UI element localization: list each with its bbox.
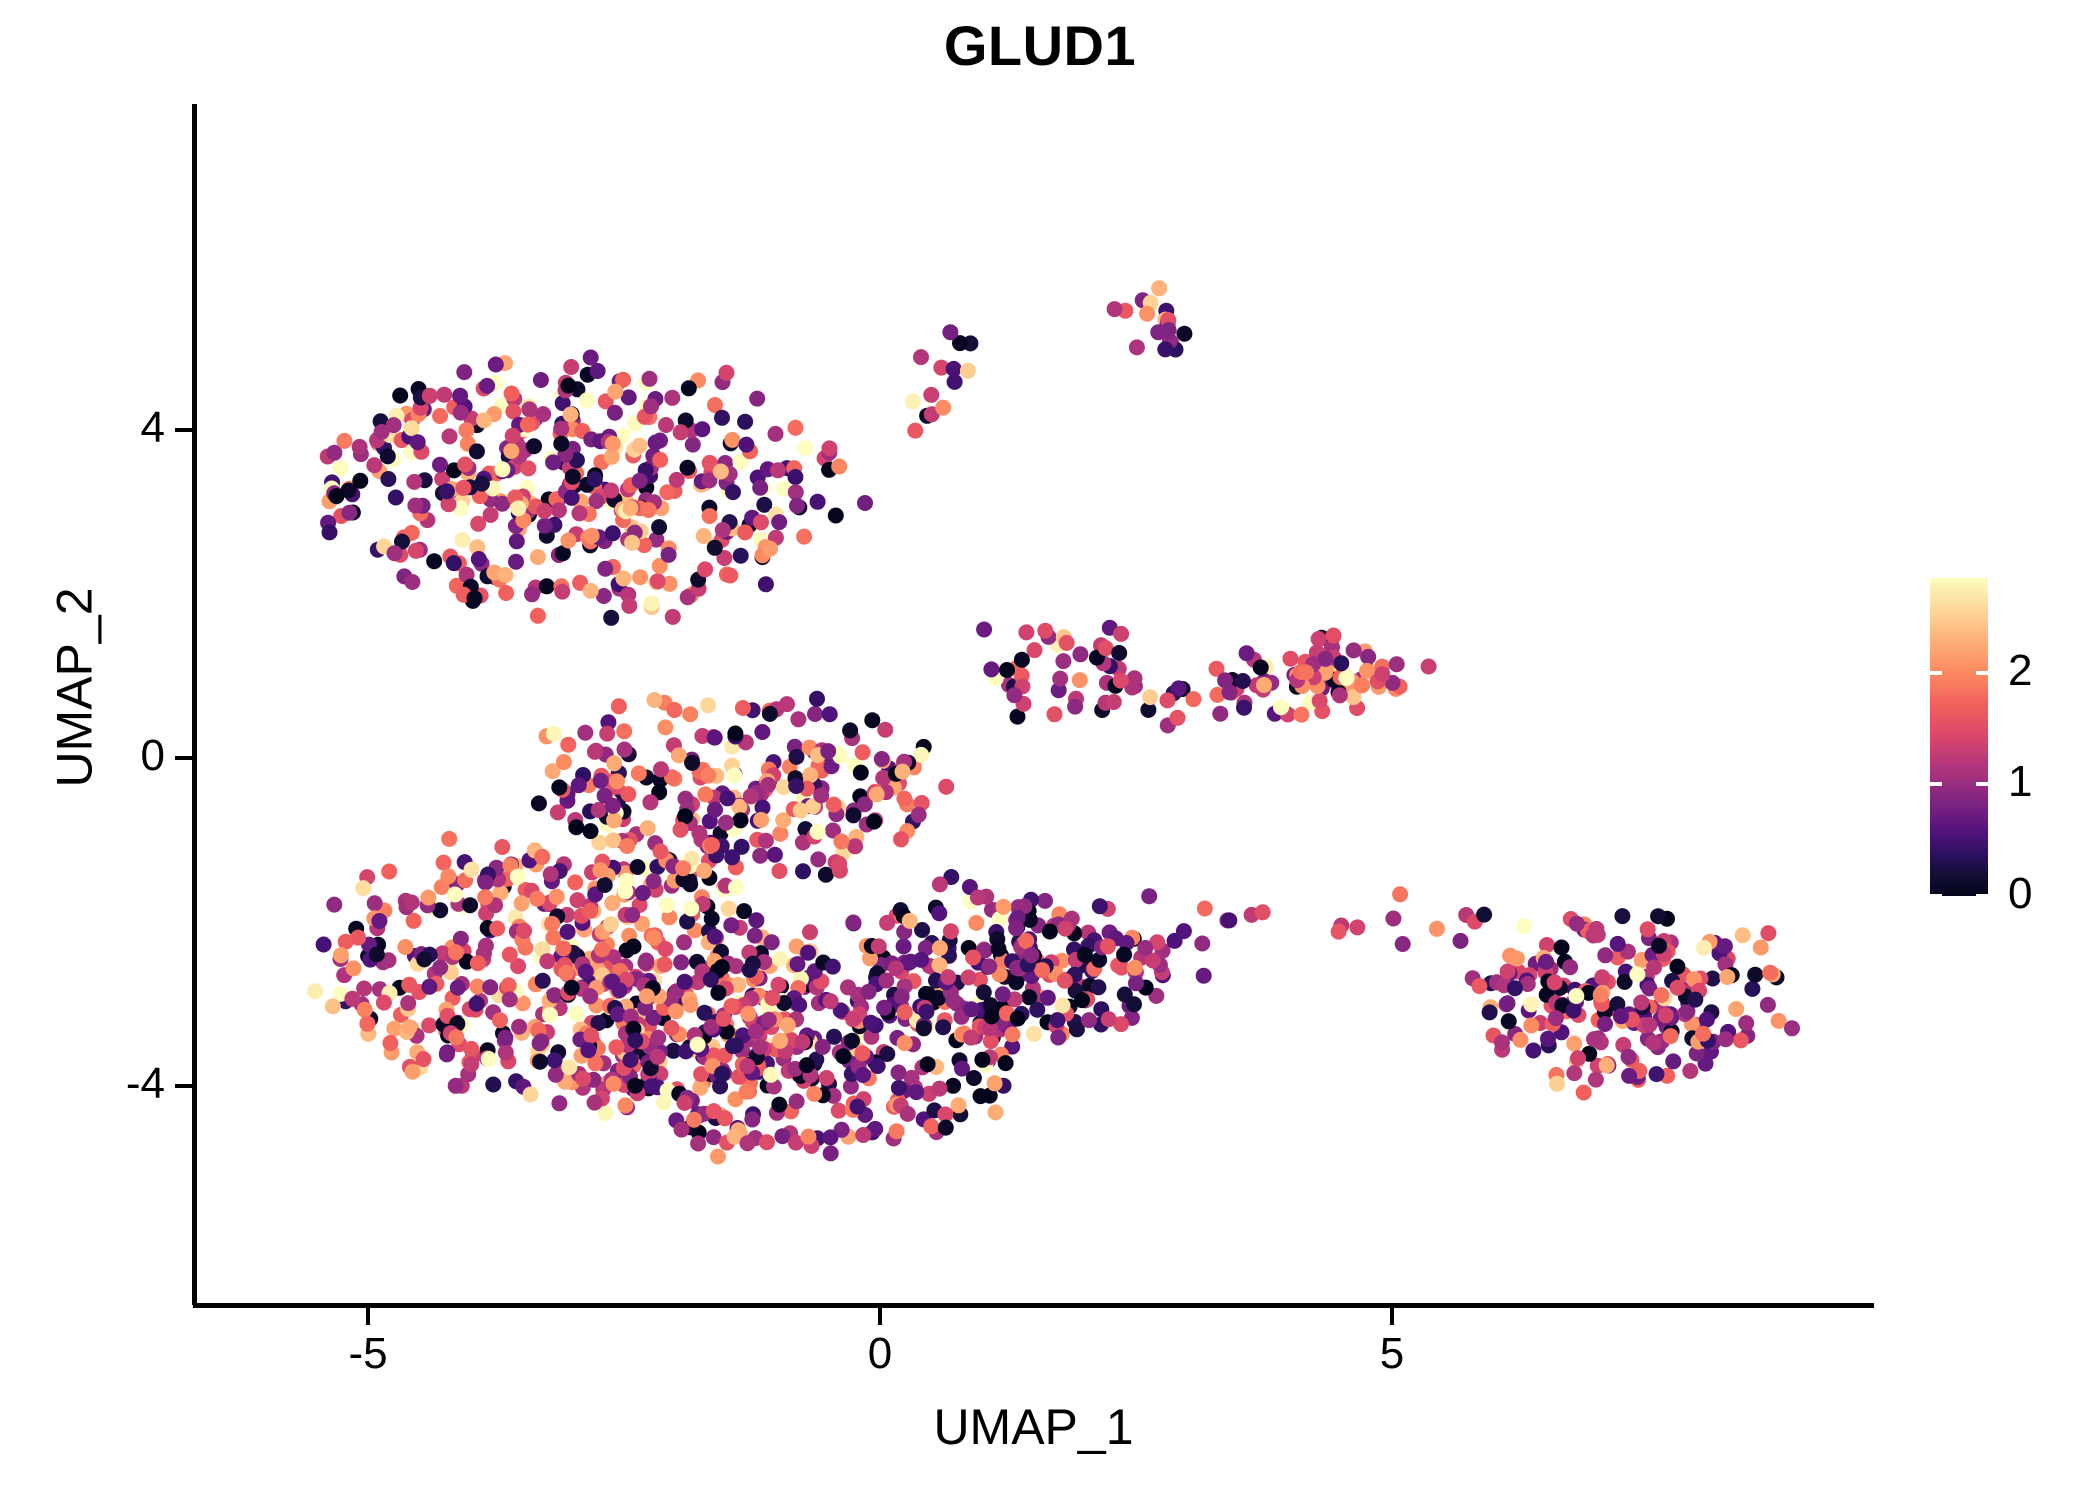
scatter-point — [1687, 992, 1703, 1008]
scatter-point — [1170, 710, 1186, 726]
scatter-point — [1111, 645, 1127, 661]
scatter-point — [416, 951, 432, 967]
scatter-point — [408, 543, 424, 559]
scatter-point — [508, 554, 524, 570]
scatter-point — [1141, 888, 1157, 904]
scatter-point — [644, 1078, 660, 1094]
scatter-point — [1331, 924, 1347, 940]
scatter-point — [810, 494, 826, 510]
scatter-point — [943, 923, 959, 939]
scatter-point — [488, 357, 504, 373]
scatter-point — [474, 476, 490, 492]
scatter-point — [657, 719, 673, 735]
scatter-point — [908, 1084, 924, 1100]
scatter-point — [1298, 664, 1314, 680]
scatter-point — [597, 788, 613, 804]
scatter-point — [1566, 1036, 1582, 1052]
scatter-point — [524, 586, 540, 602]
scatter-point — [739, 1084, 755, 1100]
scatter-point — [1107, 301, 1123, 317]
scatter-point — [1037, 623, 1053, 639]
scatter-point — [822, 440, 838, 456]
scatter-point — [976, 622, 992, 638]
scatter-point — [631, 765, 647, 781]
scatter-point — [494, 839, 510, 855]
scatter-point — [738, 437, 754, 453]
scatter-point — [725, 484, 741, 500]
scatter-point — [661, 547, 677, 563]
scatter-point — [1771, 1013, 1787, 1029]
scatter-point — [1333, 655, 1349, 671]
scatter-point — [646, 930, 662, 946]
scatter-point — [823, 993, 839, 1009]
scatter-point — [516, 923, 532, 939]
scatter-point — [1453, 933, 1469, 949]
scatter-point — [897, 1004, 913, 1020]
scatter-point — [526, 438, 542, 454]
scatter-point — [970, 890, 986, 906]
scatter-point — [1161, 322, 1177, 338]
scatter-point — [855, 1127, 871, 1143]
scatter-point — [664, 390, 680, 406]
scatter-point — [1151, 280, 1167, 296]
scatter-point — [752, 480, 768, 496]
scatter-point — [913, 349, 929, 365]
scatter-point — [1753, 940, 1769, 956]
x-tick-mark — [1390, 1308, 1394, 1325]
scatter-point — [551, 502, 567, 518]
scatter-point — [605, 525, 621, 541]
scatter-point — [492, 1012, 508, 1028]
scatter-point — [995, 986, 1011, 1002]
scatter-point — [369, 946, 385, 962]
scatter-point — [916, 1020, 932, 1036]
scatter-point — [1650, 908, 1666, 924]
scatter-point — [1037, 893, 1053, 909]
scatter-point — [1160, 692, 1176, 708]
scatter-point — [707, 540, 723, 556]
scatter-point — [380, 471, 396, 487]
scatter-point — [376, 995, 392, 1011]
scatter-point — [663, 1020, 679, 1036]
scatter-point — [404, 895, 420, 911]
scatter-point — [658, 417, 674, 433]
scatter-point — [583, 350, 599, 366]
scatter-point — [771, 514, 787, 530]
scatter-point — [1072, 672, 1088, 688]
scatter-point — [1126, 996, 1142, 1012]
scatter-point — [520, 417, 536, 433]
scatter-point — [1024, 947, 1040, 963]
scatter-point — [823, 1145, 839, 1161]
scatter-point — [1621, 1049, 1637, 1065]
scatter-point — [442, 428, 458, 444]
scatter-point — [542, 1007, 558, 1023]
scatter-point — [680, 460, 696, 476]
scatter-point — [652, 452, 668, 468]
scatter-point — [714, 1066, 730, 1082]
scatter-point — [790, 711, 806, 727]
scatter-point — [374, 424, 390, 440]
scatter-point — [567, 874, 583, 890]
scatter-point — [1640, 921, 1656, 937]
scatter-point — [1651, 938, 1667, 954]
scatter-point — [855, 744, 871, 760]
scatter-point — [572, 505, 588, 521]
scatter-point — [510, 500, 526, 516]
y-axis-title: UMAP_2 — [48, 408, 103, 968]
scatter-point — [404, 420, 420, 436]
scatter-point — [854, 1045, 870, 1061]
scatter-point — [533, 1033, 549, 1049]
scatter-point — [806, 1086, 822, 1102]
scatter-point — [772, 826, 788, 842]
scatter-point — [1728, 1001, 1744, 1017]
scatter-point — [503, 443, 519, 459]
scatter-point — [630, 859, 646, 875]
scatter-point — [563, 407, 579, 423]
scatter-point — [659, 897, 675, 913]
scatter-point — [684, 755, 700, 771]
scatter-point — [1018, 933, 1034, 949]
scatter-point — [439, 1046, 455, 1062]
scatter-point — [716, 1011, 732, 1027]
scatter-point — [560, 378, 576, 394]
scatter-point — [1614, 908, 1630, 924]
scatter-point — [700, 697, 716, 713]
scatter-point — [740, 1006, 756, 1022]
scatter-point — [965, 950, 981, 966]
y-axis-line — [192, 104, 197, 1305]
scatter-point — [1392, 886, 1408, 902]
scatter-point — [809, 691, 825, 707]
scatter-point — [597, 561, 613, 577]
scatter-point — [422, 388, 438, 404]
scatter-point — [724, 849, 740, 865]
scatter-point — [458, 422, 474, 438]
scatter-point — [759, 1134, 775, 1150]
scatter-point — [923, 387, 939, 403]
scatter-point — [587, 744, 603, 760]
scatter-point — [346, 960, 362, 976]
scatter-point — [463, 1041, 479, 1057]
scatter-point — [1311, 631, 1327, 647]
scatter-point — [845, 915, 861, 931]
scatter-point — [1283, 651, 1299, 667]
scatter-point — [509, 533, 525, 549]
scatter-point — [1346, 642, 1362, 658]
scatter-point — [371, 913, 387, 929]
scatter-point — [1067, 699, 1083, 715]
scatter-point — [505, 428, 521, 444]
scatter-point — [840, 979, 856, 995]
scatter-point — [553, 421, 569, 437]
scatter-point — [763, 1067, 779, 1083]
scatter-point — [583, 583, 599, 599]
scatter-point — [758, 576, 774, 592]
scatter-point — [543, 866, 559, 882]
scatter-point — [464, 862, 480, 878]
scatter-point — [421, 979, 437, 995]
x-tick-label: 0 — [800, 1330, 960, 1378]
y-tick-label: -4 — [20, 1060, 165, 1108]
scatter-point — [357, 1002, 373, 1018]
scatter-point — [1562, 959, 1578, 975]
scatter-point — [650, 1049, 666, 1065]
scatter-point — [1052, 671, 1068, 687]
scatter-point — [694, 421, 710, 437]
scatter-point — [720, 790, 736, 806]
scatter-point — [935, 400, 951, 416]
scatter-point — [367, 895, 383, 911]
scatter-point — [753, 514, 769, 530]
scatter-point — [1055, 653, 1071, 669]
scatter-point — [1008, 920, 1024, 936]
scatter-point — [609, 773, 625, 789]
scatter-point — [706, 1103, 722, 1119]
scatter-point — [591, 802, 607, 818]
scatter-point — [968, 915, 984, 931]
scatter-point — [529, 891, 545, 907]
scatter-point — [544, 916, 560, 932]
scatter-point — [791, 997, 807, 1013]
scatter-point — [770, 462, 786, 478]
scatter-point — [1167, 933, 1183, 949]
scatter-point — [897, 1035, 913, 1051]
scatter-point — [828, 508, 844, 524]
scatter-point — [400, 995, 416, 1011]
scatter-point — [1008, 974, 1024, 990]
scatter-point — [1018, 624, 1034, 640]
x-tick-label: 5 — [1312, 1330, 1472, 1378]
scatter-point — [1196, 968, 1212, 984]
scatter-point — [380, 448, 396, 464]
scatter-point — [1092, 898, 1108, 914]
scatter-point — [1354, 677, 1370, 693]
scatter-point — [514, 895, 530, 911]
scatter-point — [603, 916, 619, 932]
scatter-point — [823, 1129, 839, 1145]
scatter-point — [702, 508, 718, 524]
scatter-point — [590, 363, 606, 379]
scatter-point — [1762, 965, 1778, 981]
scatter-point — [1633, 995, 1649, 1011]
scatter-point — [561, 1059, 577, 1075]
scatter-point — [627, 1032, 643, 1048]
y-tick-mark — [175, 1084, 192, 1088]
scatter-point — [657, 957, 673, 973]
scatter-point — [1523, 1018, 1539, 1034]
scatter-point — [539, 578, 555, 594]
scatter-point — [845, 807, 861, 823]
scatter-point — [960, 363, 976, 379]
scatter-point — [1421, 659, 1437, 675]
scatter-point — [1665, 1053, 1681, 1069]
scatter-point — [471, 551, 487, 567]
scatter-point — [463, 1056, 479, 1072]
scatter-point — [1663, 1028, 1679, 1044]
scatter-point — [961, 969, 977, 985]
scatter-point — [894, 989, 910, 1005]
x-tick-mark — [878, 1308, 882, 1325]
scatter-point — [1760, 997, 1776, 1013]
scatter-plot-canvas — [0, 0, 2100, 1500]
scatter-point — [606, 755, 622, 771]
scatter-point — [1236, 700, 1252, 716]
scatter-point — [677, 1095, 693, 1111]
colorbar-tick-label: 2 — [2008, 647, 2098, 695]
scatter-point — [831, 1103, 847, 1119]
scatter-point — [1658, 1007, 1674, 1023]
scatter-point — [787, 469, 803, 485]
scatter-point — [1318, 651, 1334, 667]
scatter-point — [1735, 927, 1751, 943]
scatter-point — [627, 1078, 643, 1094]
scatter-point — [951, 1097, 967, 1113]
scatter-point — [551, 1095, 567, 1111]
scatter-point — [726, 767, 742, 783]
y-tick-mark — [175, 428, 192, 432]
scatter-point — [1747, 967, 1763, 983]
scatter-point — [401, 1019, 417, 1035]
scatter-point — [455, 480, 471, 496]
scatter-point — [536, 503, 552, 519]
scatter-point — [616, 571, 632, 587]
scatter-point — [1588, 921, 1604, 937]
scatter-point — [1549, 1076, 1565, 1092]
scatter-point — [498, 585, 514, 601]
scatter-point — [722, 568, 738, 584]
scatter-point — [644, 595, 660, 611]
scatter-point — [333, 947, 349, 963]
scatter-point — [416, 1051, 432, 1067]
scatter-point — [617, 1097, 633, 1113]
scatter-point — [447, 887, 463, 903]
scatter-point — [653, 761, 669, 777]
scatter-point — [800, 1129, 816, 1145]
scatter-point — [1050, 1030, 1066, 1046]
scatter-point — [963, 1030, 979, 1046]
scatter-point — [1610, 936, 1626, 952]
scatter-point — [436, 855, 452, 871]
scatter-point — [1157, 341, 1173, 357]
scatter-point — [1494, 1034, 1510, 1050]
scatter-point — [608, 1039, 624, 1055]
scatter-point — [1629, 966, 1645, 982]
scatter-point — [761, 1012, 777, 1028]
scatter-point — [638, 953, 654, 969]
scatter-point — [448, 1078, 464, 1094]
scatter-point — [1116, 947, 1132, 963]
scatter-point — [1695, 1026, 1711, 1042]
scatter-point — [876, 1000, 892, 1016]
scatter-point — [1221, 912, 1237, 928]
scatter-point — [1171, 680, 1187, 696]
scatter-point — [482, 979, 498, 995]
scatter-point — [1014, 652, 1030, 668]
scatter-point — [938, 779, 954, 795]
scatter-point — [453, 931, 469, 947]
scatter-point — [560, 533, 576, 549]
scatter-point — [352, 439, 368, 455]
scatter-point — [871, 938, 887, 954]
scatter-point — [1594, 969, 1610, 985]
scatter-point — [1476, 907, 1492, 923]
scatter-point — [1106, 694, 1122, 710]
scatter-point — [1719, 969, 1735, 985]
scatter-point — [604, 895, 620, 911]
scatter-point — [896, 938, 912, 954]
scatter-point — [747, 928, 763, 944]
scatter-point — [1646, 960, 1662, 976]
scatter-point — [646, 692, 662, 708]
scatter-point — [878, 973, 894, 989]
scatter-point — [1349, 919, 1365, 935]
scatter-point — [896, 791, 912, 807]
scatter-point — [1548, 1010, 1564, 1026]
scatter-point — [469, 996, 485, 1012]
scatter-point — [440, 868, 456, 884]
scatter-point — [760, 777, 776, 793]
scatter-point — [902, 913, 918, 929]
scatter-point — [535, 973, 551, 989]
scatter-point — [617, 883, 633, 899]
scatter-point — [470, 955, 486, 971]
scatter-point — [1042, 924, 1058, 940]
scatter-point — [847, 838, 863, 854]
scatter-point — [502, 991, 518, 1007]
scatter-point — [845, 1011, 861, 1027]
scatter-point — [1569, 916, 1585, 932]
scatter-point — [1239, 645, 1255, 661]
scatter-point — [404, 574, 420, 590]
scatter-point — [1186, 691, 1202, 707]
scatter-point — [748, 1023, 764, 1039]
scatter-point — [406, 474, 422, 490]
scatter-point — [1540, 1031, 1556, 1047]
scatter-point — [707, 929, 723, 945]
scatter-point — [1197, 901, 1213, 917]
scatter-point — [911, 807, 927, 823]
scatter-point — [1090, 979, 1106, 995]
scatter-point — [651, 519, 667, 535]
scatter-point — [768, 426, 784, 442]
scatter-point — [534, 849, 550, 865]
scatter-point — [454, 532, 470, 548]
scatter-point — [593, 773, 609, 789]
scatter-point — [1516, 918, 1532, 934]
scatter-point — [504, 386, 520, 402]
scatter-point — [564, 980, 580, 996]
scatter-point — [322, 524, 338, 540]
scatter-point — [826, 797, 842, 813]
scatter-point — [656, 1095, 672, 1111]
scatter-point — [1429, 921, 1445, 937]
scatter-point — [498, 1045, 514, 1061]
scatter-point — [742, 962, 758, 978]
scatter-point — [620, 786, 636, 802]
scatter-point — [554, 584, 570, 600]
scatter-point — [737, 524, 753, 540]
scatter-point — [733, 548, 749, 564]
scatter-point — [1554, 940, 1570, 956]
scatter-point — [432, 457, 448, 473]
scatter-point — [607, 405, 623, 421]
colorbar-tick-label: 1 — [2008, 758, 2098, 806]
scatter-point — [1113, 626, 1129, 642]
scatter-point — [653, 844, 669, 860]
scatter-point — [605, 436, 621, 452]
